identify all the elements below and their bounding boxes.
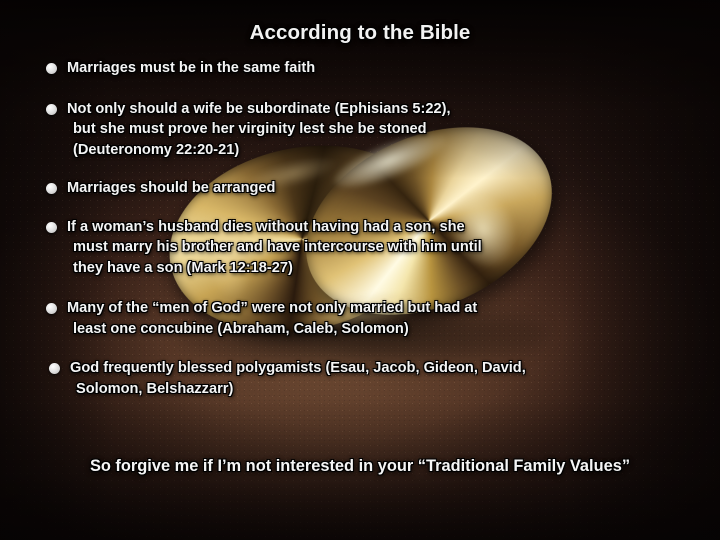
list-item: If a woman’s husband dies without having…: [46, 217, 696, 279]
meme-image: According to the Bible Marriages must be…: [0, 0, 720, 540]
caption-overlay: According to the Bible Marriages must be…: [0, 0, 720, 540]
bullet-dot-icon: [46, 303, 57, 314]
list-item-line: Not only should a wife be subordinate (E…: [67, 99, 696, 120]
bullet-dot-icon: [46, 183, 57, 194]
list-item-line: least one concubine (Abraham, Caleb, Sol…: [67, 319, 696, 340]
bullet-list: Marriages must be in the same faith Not …: [46, 58, 696, 399]
bullet-dot-icon: [49, 363, 60, 374]
bullet-dot-icon: [46, 63, 57, 74]
list-item-line: God frequently blessed polygamists (Esau…: [70, 358, 696, 379]
list-item: God frequently blessed polygamists (Esau…: [46, 358, 696, 399]
list-item-line: (Deuteronomy 22:20-21): [67, 140, 696, 161]
list-item-line: must marry his brother and have intercou…: [67, 237, 696, 258]
list-item: Marriages should be arranged: [46, 178, 696, 199]
list-item-line: Solomon, Belshazzarr): [70, 379, 696, 400]
page-title: According to the Bible: [0, 21, 720, 45]
list-item-line: Many of the “men of God” were not only m…: [67, 298, 696, 319]
closing-statement: So forgive me if I’m not interested in y…: [0, 457, 720, 476]
list-item: Many of the “men of God” were not only m…: [46, 298, 696, 339]
list-item: Not only should a wife be subordinate (E…: [46, 99, 696, 161]
list-item-line: they have a son (Mark 12:18-27): [67, 258, 696, 279]
bullet-dot-icon: [46, 222, 57, 233]
list-item-line: but she must prove her virginity lest sh…: [67, 119, 696, 140]
list-item: Marriages must be in the same faith: [46, 58, 696, 79]
list-item-line: Marriages should be arranged: [67, 178, 696, 199]
list-item-line: Marriages must be in the same faith: [67, 58, 696, 79]
list-item-line: If a woman’s husband dies without having…: [67, 217, 696, 238]
bullet-dot-icon: [46, 104, 57, 115]
